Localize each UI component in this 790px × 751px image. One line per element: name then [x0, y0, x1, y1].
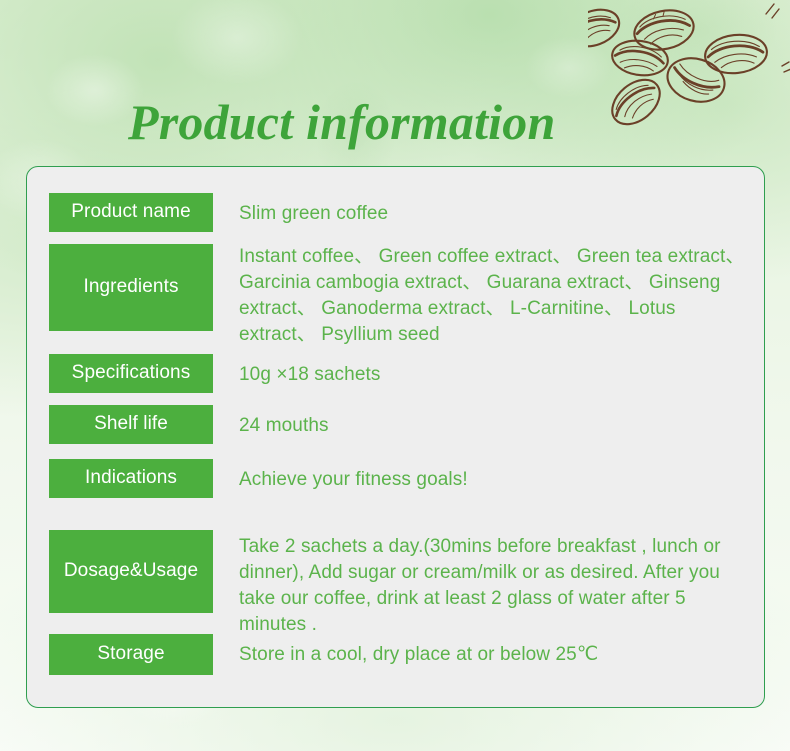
coffee-beans-sketch-icon	[588, 0, 790, 127]
product-information-page: Product information Product name Slim gr…	[0, 0, 790, 751]
row-value-specifications: 10g ×18 sachets	[213, 354, 752, 388]
row-label-dosage-usage: Dosage&Usage	[49, 530, 213, 613]
table-row: Indications Achieve your fitness goals!	[49, 459, 752, 498]
row-label-specifications: Specifications	[49, 354, 213, 393]
table-row: Dosage&Usage Take 2 sachets a day.(30min…	[49, 530, 752, 638]
row-value-shelf-life: 24 mouths	[213, 405, 752, 439]
row-label-storage: Storage	[49, 634, 213, 675]
table-row: Specifications 10g ×18 sachets	[49, 354, 752, 393]
specification-table: Product name Slim green coffee Ingredien…	[27, 167, 765, 708]
table-row: Shelf life 24 mouths	[49, 405, 752, 444]
page-title: Product information	[128, 94, 555, 150]
row-value-indications: Achieve your fitness goals!	[213, 459, 752, 493]
row-label-shelf-life: Shelf life	[49, 405, 213, 444]
row-value-dosage-usage: Take 2 sachets a day.(30mins before brea…	[213, 530, 752, 638]
row-label-product-name: Product name	[49, 193, 213, 232]
table-row: Storage Store in a cool, dry place at or…	[49, 634, 752, 675]
product-information-card: Product name Slim green coffee Ingredien…	[26, 166, 765, 708]
row-value-storage: Store in a cool, dry place at or below 2…	[213, 634, 752, 668]
row-label-ingredients: Ingredients	[49, 244, 213, 331]
row-value-product-name: Slim green coffee	[213, 193, 752, 227]
table-row: Ingredients Instant coffee、 Green coffee…	[49, 244, 752, 348]
table-row: Product name Slim green coffee	[49, 193, 752, 232]
row-value-ingredients: Instant coffee、 Green coffee extract、 Gr…	[213, 244, 752, 348]
row-label-indications: Indications	[49, 459, 213, 498]
